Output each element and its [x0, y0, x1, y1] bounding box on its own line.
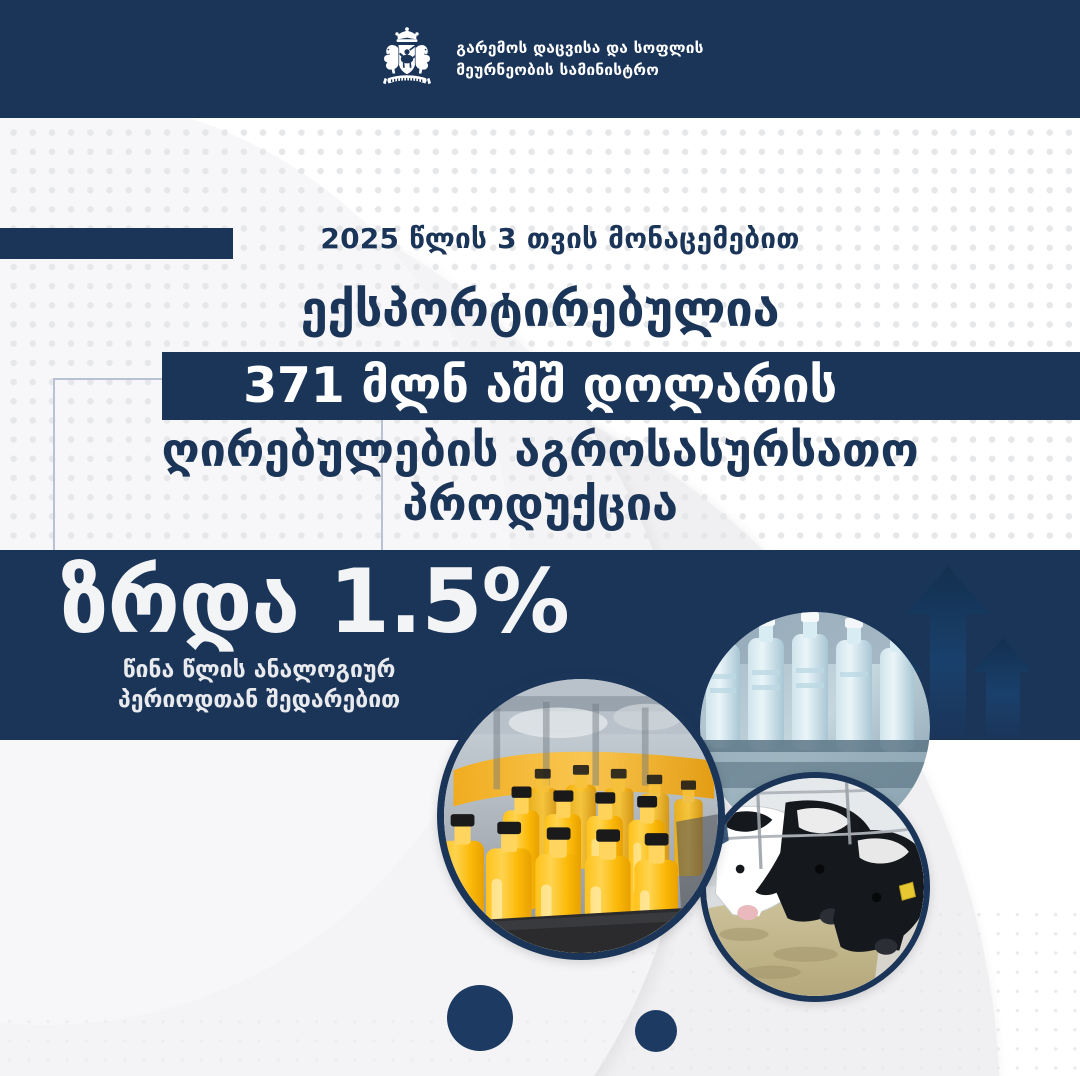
growth-subtitle-line2: პერიოდთან შედარებით — [118, 685, 400, 715]
ministry-name: გარემოს დაცვისა და სოფლის მეურნეობის სამ… — [456, 37, 703, 82]
orange-juice-bottling-line-photo — [437, 672, 725, 960]
infographic-canvas: გარემოს დაცვისა და სოფლის მეურნეობის სამ… — [0, 0, 1080, 1076]
headline-line-3a: ღირებულების აგროსასურსათო — [0, 424, 1080, 478]
ministry-name-line1: გარემოს დაცვისა და სოფლის — [456, 37, 703, 59]
growth-label: ზრდა — [60, 550, 299, 653]
ministry-name-line2: მეურნეობის სამინისტრო — [456, 59, 703, 81]
headline-highlight-text: 371 მლნ აშშ დოლარის — [0, 353, 1080, 419]
growth-headline: ზრდა 1.5% — [60, 554, 569, 649]
headline-block: 2025 წლის 3 თვის მონაცემებით ექსპორტირებ… — [0, 222, 1080, 337]
headline-eyebrow: 2025 წლის 3 თვის მონაცემებით — [40, 222, 1080, 256]
decorative-dot-large — [447, 985, 513, 1051]
decorative-dot-small — [635, 1010, 677, 1052]
growth-subtitle-line1: წინა წლის ანალოგიურ — [118, 655, 400, 685]
growth-percent-value: 1.5% — [329, 550, 569, 653]
headline-line-3b: პროდუქცია — [0, 478, 1080, 532]
growth-subtitle: წინა წლის ანალოგიურ პერიოდთან შედარებით — [118, 655, 400, 716]
dairy-cows-feeding-photo — [700, 772, 930, 1002]
dot-pattern-bottom-left — [0, 1012, 640, 1076]
headline-line-3: ღირებულების აგროსასურსათო პროდუქცია — [0, 424, 1080, 531]
headline-line-1: ექსპორტირებულია — [0, 284, 1080, 337]
ministry-header: გარემოს დაცვისა და სოფლის მეურნეობის სამ… — [0, 0, 1080, 118]
georgia-coat-of-arms-icon — [376, 23, 438, 95]
